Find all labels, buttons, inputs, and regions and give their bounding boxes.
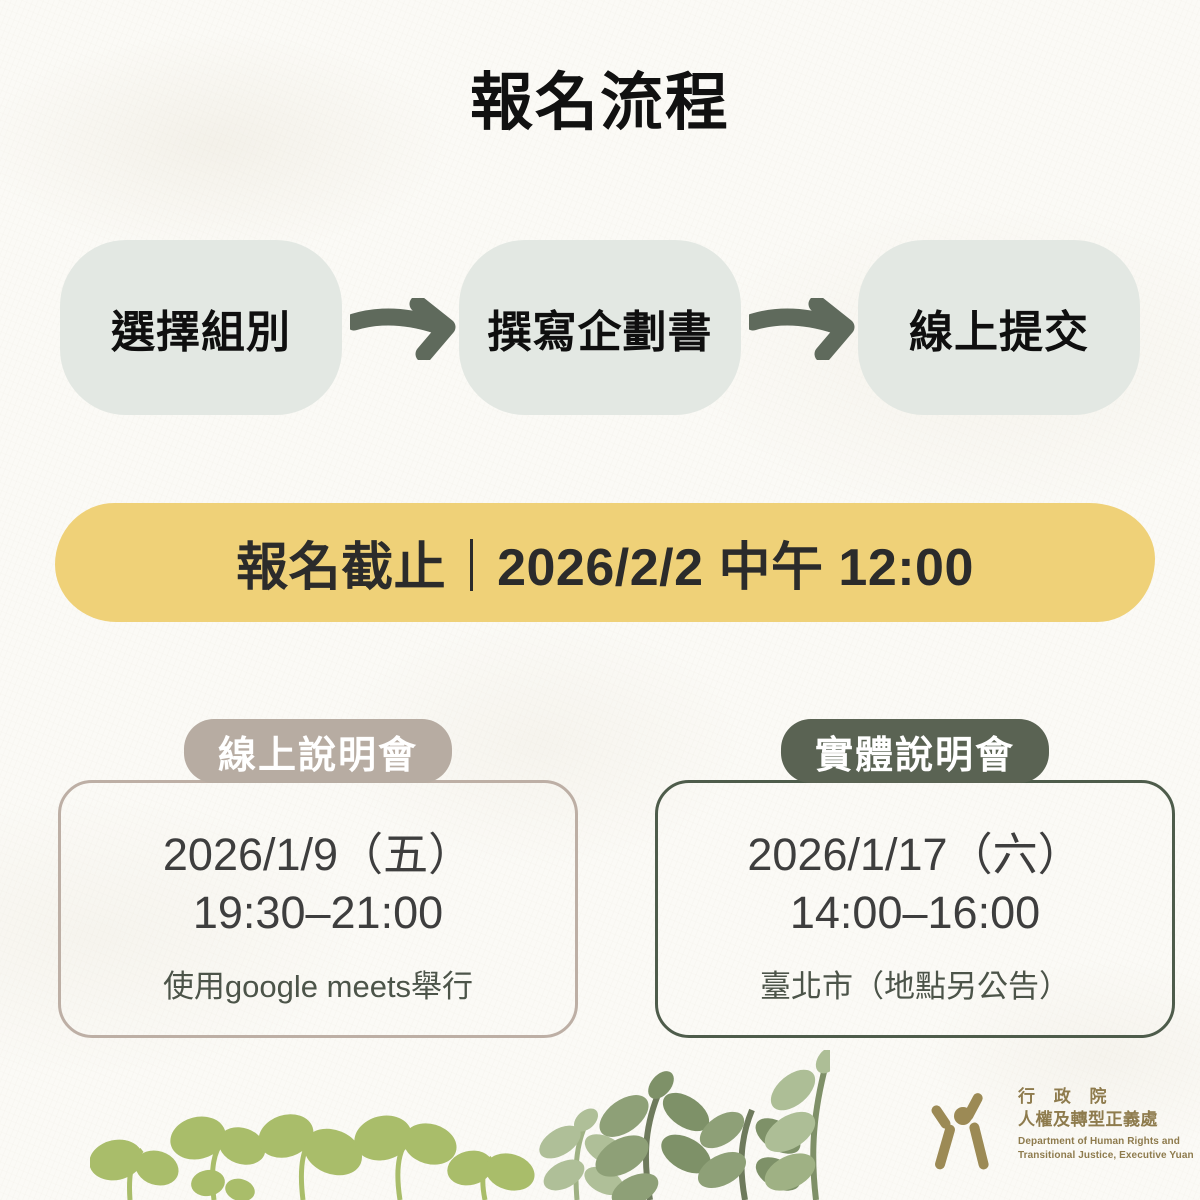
- arrow-right-icon: [749, 298, 861, 360]
- session-date: 2026/1/17（六）: [747, 826, 1082, 884]
- registration-flow: 選擇組別 撰寫企劃書 線上提交: [60, 240, 1140, 415]
- session-note: 臺北市（地點另公告）: [760, 961, 1070, 1006]
- flow-step-label: 選擇組別: [111, 296, 291, 360]
- agency-name-english-line2: Transitional Justice, Executive Yuan: [1018, 1149, 1180, 1164]
- session-card-online: 線上說明會 2026/1/9（五） 19:30–21:00 使用google m…: [58, 780, 578, 1038]
- agency-logo-text: 行 政 院 人權及轉型正義處 Department of Human Right…: [1018, 1086, 1180, 1164]
- agency-name-line2: 人權及轉型正義處: [1018, 1109, 1180, 1132]
- flow-step-select-group: 選擇組別: [60, 240, 342, 415]
- agency-name-english-line1: Department of Human Rights and: [1018, 1135, 1180, 1150]
- agency-logo: 行 政 院 人權及轉型正義處 Department of Human Right…: [930, 1086, 1180, 1182]
- session-date: 2026/1/9（五）: [163, 826, 473, 884]
- deadline-value: 2026/2/2 中午 12:00: [497, 525, 974, 600]
- session-card-onsite: 實體說明會 2026/1/17（六） 14:00–16:00 臺北市（地點另公告…: [655, 780, 1175, 1038]
- session-card-body: 2026/1/9（五） 19:30–21:00 使用google meets舉行: [61, 783, 575, 1035]
- session-badge-online: 線上說明會: [184, 719, 452, 783]
- deadline-separator: [470, 539, 473, 591]
- deadline-label: 報名截止: [236, 525, 446, 600]
- flow-step-label: 線上提交: [909, 296, 1089, 360]
- session-note: 使用google meets舉行: [163, 961, 473, 1006]
- session-card-body: 2026/1/17（六） 14:00–16:00 臺北市（地點另公告）: [658, 783, 1172, 1035]
- agency-name-line1: 行 政 院: [1018, 1086, 1180, 1109]
- executive-yuan-human-rights-mark-icon: [930, 1090, 1010, 1172]
- poster-stage: 報名流程 選擇組別 撰寫企劃書 線上提交 報名截止: [0, 0, 1200, 1200]
- flow-step-online-submit: 線上提交: [858, 240, 1140, 415]
- flow-step-label: 撰寫企劃書: [488, 296, 713, 360]
- session-time: 14:00–16:00: [790, 884, 1040, 942]
- deadline-banner-text: 報名截止 2026/2/2 中午 12:00: [55, 503, 1155, 622]
- sprouts-plants-icon: [90, 1050, 830, 1200]
- deadline-banner: 報名截止 2026/2/2 中午 12:00: [55, 503, 1155, 622]
- page-title: 報名流程: [0, 52, 1200, 143]
- session-time: 19:30–21:00: [193, 884, 443, 942]
- flow-step-write-proposal: 撰寫企劃書: [459, 240, 741, 415]
- arrow-right-icon: [350, 298, 462, 360]
- session-badge-onsite: 實體說明會: [781, 719, 1049, 783]
